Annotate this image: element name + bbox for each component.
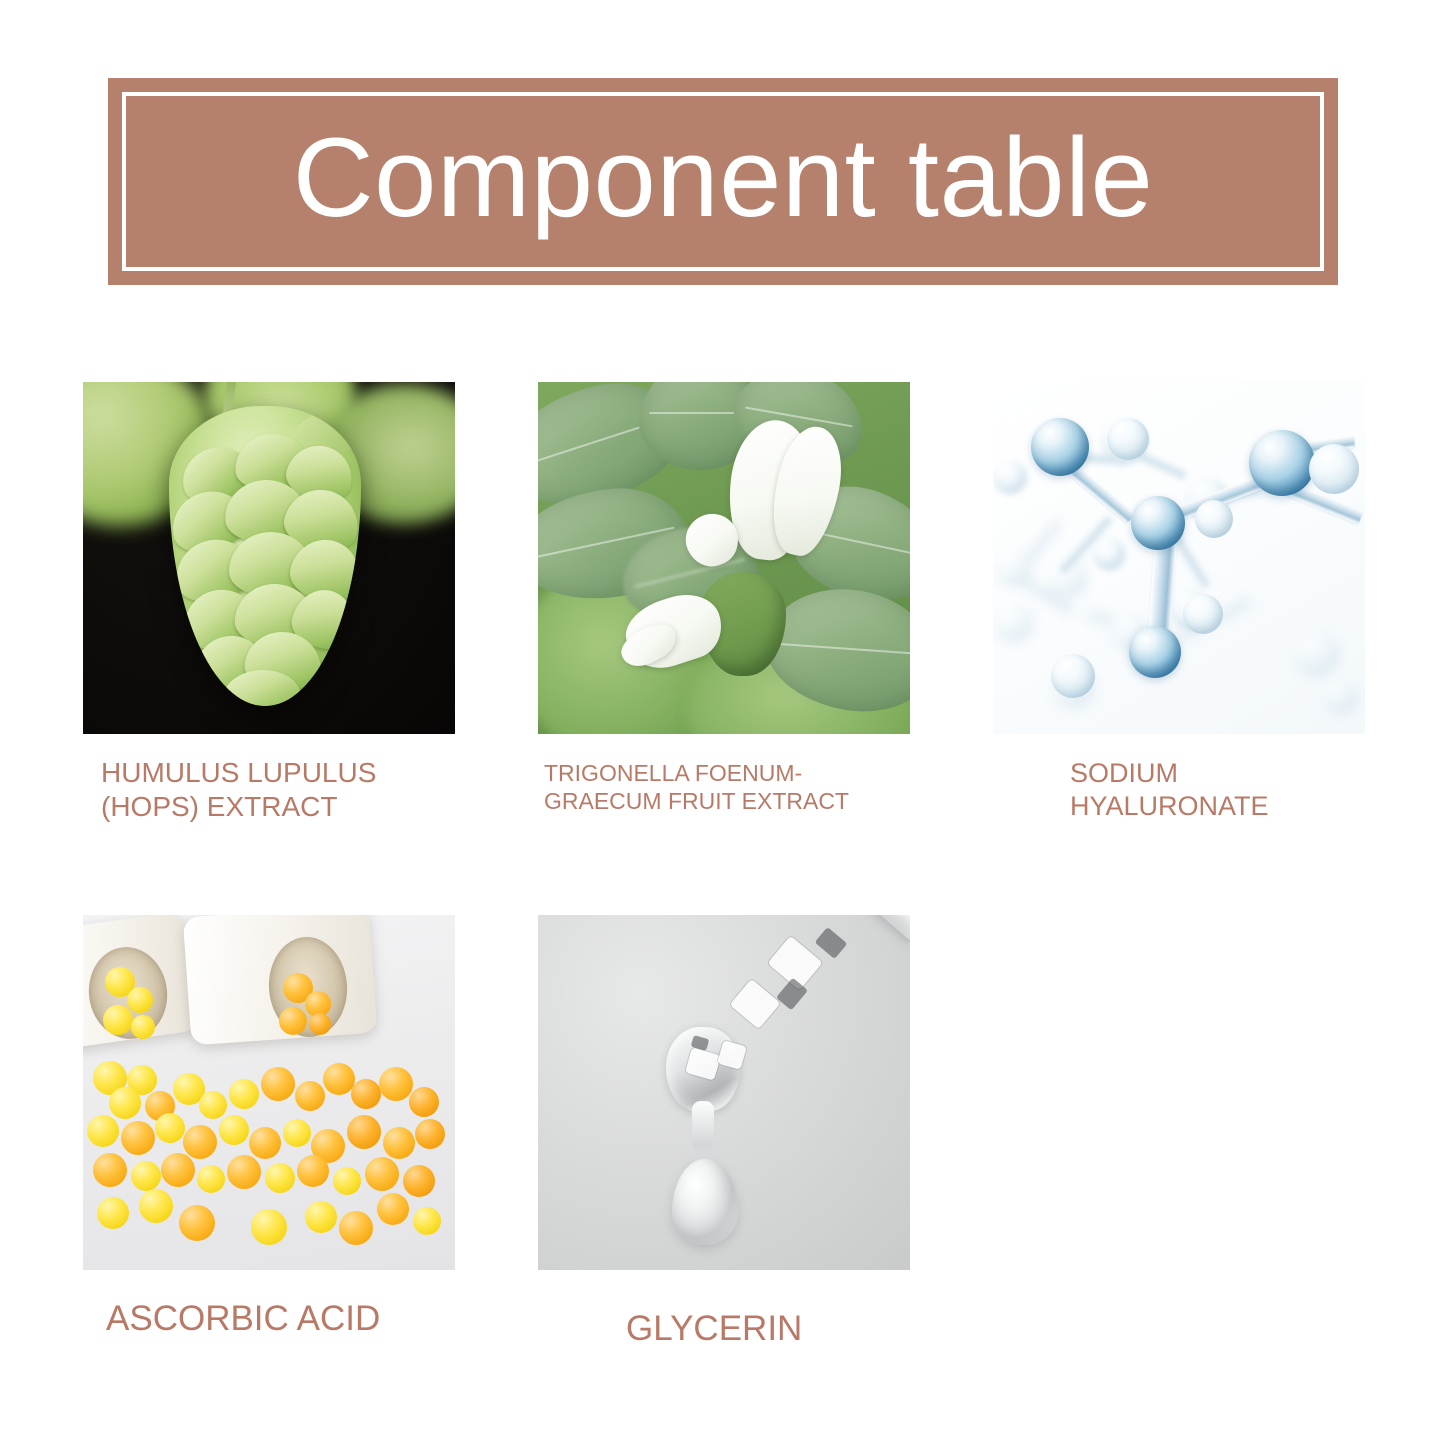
pipette-tube — [687, 915, 910, 944]
component-card-humulus-lupulus[interactable]: HUMULUS LUPULUS (HOPS) EXTRACT — [83, 382, 455, 824]
component-label-glycerin: GLYCERIN — [626, 1308, 910, 1351]
vitamin-c-pills-photo — [83, 915, 455, 1270]
fenugreek-plant-photo — [538, 382, 910, 734]
header-banner: Component table — [108, 78, 1338, 285]
molecule-atom — [1183, 594, 1223, 634]
molecule-atom — [1107, 418, 1149, 460]
hop-cone — [169, 406, 361, 706]
component-card-sodium-hyaluronate[interactable]: SODIUM HYALURONATE — [993, 382, 1365, 823]
molecule-atom — [1051, 654, 1095, 698]
molecule-atom — [1309, 444, 1359, 494]
component-card-ascorbic-acid[interactable]: ASCORBIC ACID — [83, 915, 455, 1341]
glass-dropper-photo — [538, 915, 910, 1270]
molecule-model-photo — [993, 382, 1365, 734]
molecule-atom — [1195, 500, 1233, 538]
dropper-illustration — [538, 915, 910, 1270]
hops-cone-illustration — [83, 382, 455, 734]
molecule-atom — [1131, 496, 1185, 550]
header-inner-border: Component table — [122, 92, 1324, 271]
component-card-trigonella-foenum-graecum[interactable]: TRIGONELLA FOENUM- GRAECUM FRUIT EXTRACT — [538, 382, 910, 815]
pills-illustration — [83, 915, 455, 1270]
component-label-humulus-lupulus: HUMULUS LUPULUS (HOPS) EXTRACT — [101, 756, 455, 824]
fenugreek-illustration — [538, 382, 910, 734]
component-label-ascorbic-acid: ASCORBIC ACID — [106, 1298, 455, 1341]
component-label-sodium-hyaluronate: SODIUM HYALURONATE — [1070, 757, 1365, 823]
molecule-atom — [1129, 626, 1181, 678]
molecule-illustration — [993, 382, 1365, 734]
liquid-drop — [672, 1159, 738, 1245]
molecule-atom — [1031, 418, 1089, 476]
page-title: Component table — [293, 122, 1154, 234]
hops-cone-photo — [83, 382, 455, 734]
component-card-glycerin[interactable]: GLYCERIN — [538, 915, 910, 1351]
component-label-trigonella-foenum-graecum: TRIGONELLA FOENUM- GRAECUM FRUIT EXTRACT — [544, 759, 910, 815]
molecule-atom — [1249, 430, 1315, 496]
